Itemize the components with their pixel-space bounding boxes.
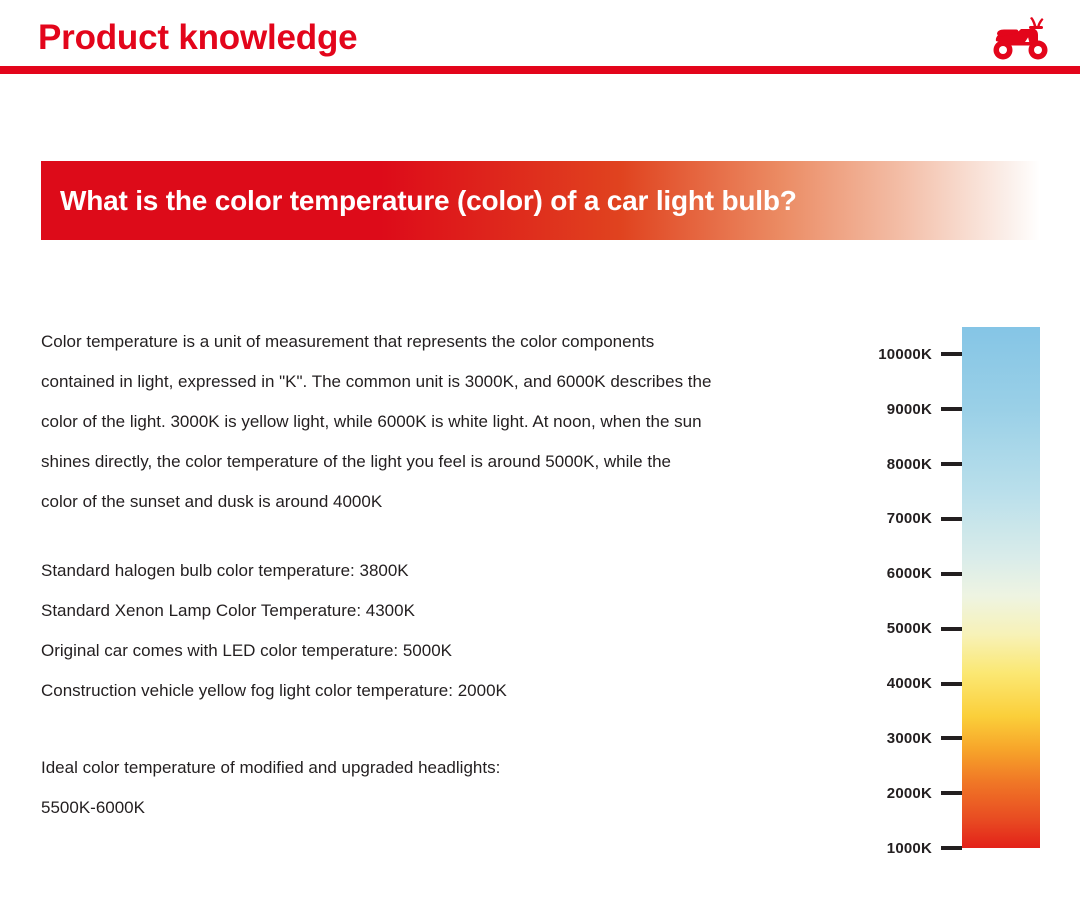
intro-paragraph: Color temperature is a unit of measureme… — [41, 322, 831, 522]
tick-label: 10000K — [878, 347, 932, 362]
tick-mark — [941, 791, 962, 795]
intro-line: color of the sunset and dusk is around 4… — [41, 482, 831, 522]
content-body: Color temperature is a unit of measureme… — [41, 322, 831, 828]
tick-mark — [941, 736, 962, 740]
intro-line: color of the light. 3000K is yellow ligh… — [41, 402, 831, 442]
page-title: Product knowledge — [38, 18, 357, 58]
tick-label: 9000K — [887, 402, 932, 417]
tick-mark — [941, 627, 962, 631]
tick-label: 7000K — [887, 511, 932, 526]
intro-line: contained in light, expressed in "K". Th… — [41, 362, 831, 402]
list-item: Original car comes with LED color temper… — [41, 631, 831, 671]
tick-label: 1000K — [887, 841, 932, 856]
list-item: Standard halogen bulb color temperature:… — [41, 551, 831, 591]
tick-mark — [941, 517, 962, 521]
tick-label: 8000K — [887, 457, 932, 472]
tick-mark — [941, 682, 962, 686]
tick-label: 6000K — [887, 566, 932, 581]
tick-mark — [941, 352, 962, 356]
section-title-text: What is the color temperature (color) of… — [60, 185, 797, 217]
spec-list: Standard halogen bulb color temperature:… — [41, 551, 831, 711]
header-divider — [0, 66, 1080, 74]
scooter-icon — [990, 16, 1052, 62]
color-temperature-gradient-bar — [962, 327, 1040, 848]
tick-mark — [941, 462, 962, 466]
tick-label: 4000K — [887, 676, 932, 691]
tick-mark — [941, 846, 962, 850]
tick-label: 3000K — [887, 731, 932, 746]
intro-line: shines directly, the color temperature o… — [41, 442, 831, 482]
list-item: Construction vehicle yellow fog light co… — [41, 671, 831, 711]
tick-label: 5000K — [887, 621, 932, 636]
intro-line: Color temperature is a unit of measureme… — [41, 322, 831, 362]
closing-block: Ideal color temperature of modified and … — [41, 748, 831, 828]
closing-line: Ideal color temperature of modified and … — [41, 748, 831, 788]
list-item: Standard Xenon Lamp Color Temperature: 4… — [41, 591, 831, 631]
page-header: Product knowledge — [0, 0, 1080, 75]
tick-mark — [941, 407, 962, 411]
section-title-banner: What is the color temperature (color) of… — [41, 161, 1040, 240]
color-temperature-scale: 10000K9000K8000K7000K6000K5000K4000K3000… — [868, 327, 1042, 850]
tick-mark — [941, 572, 962, 576]
closing-line: 5500K-6000K — [41, 788, 831, 828]
tick-label: 2000K — [887, 786, 932, 801]
